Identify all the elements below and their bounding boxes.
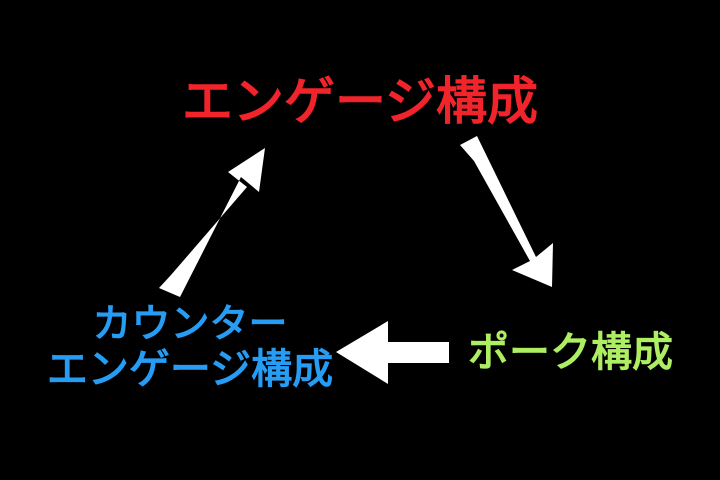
arrow-poke-to-counter — [336, 321, 449, 384]
node-poke-label: ポーク構成 — [468, 330, 673, 376]
arrow-counter-to-engage — [159, 148, 265, 297]
node-counter-engage-line2: エンゲージ構成 — [44, 347, 336, 393]
node-counter-engage-label: カウンター エンゲージ構成 — [44, 303, 336, 393]
diagram-canvas: エンゲージ構成 ポーク構成 カウンター エンゲージ構成 — [0, 0, 720, 480]
node-counter-engage-line1: カウンター — [92, 302, 287, 347]
arrow-engage-to-poke — [460, 136, 553, 287]
node-engage-label: エンゲージ構成 — [0, 74, 720, 131]
arrow-layer — [0, 0, 720, 480]
